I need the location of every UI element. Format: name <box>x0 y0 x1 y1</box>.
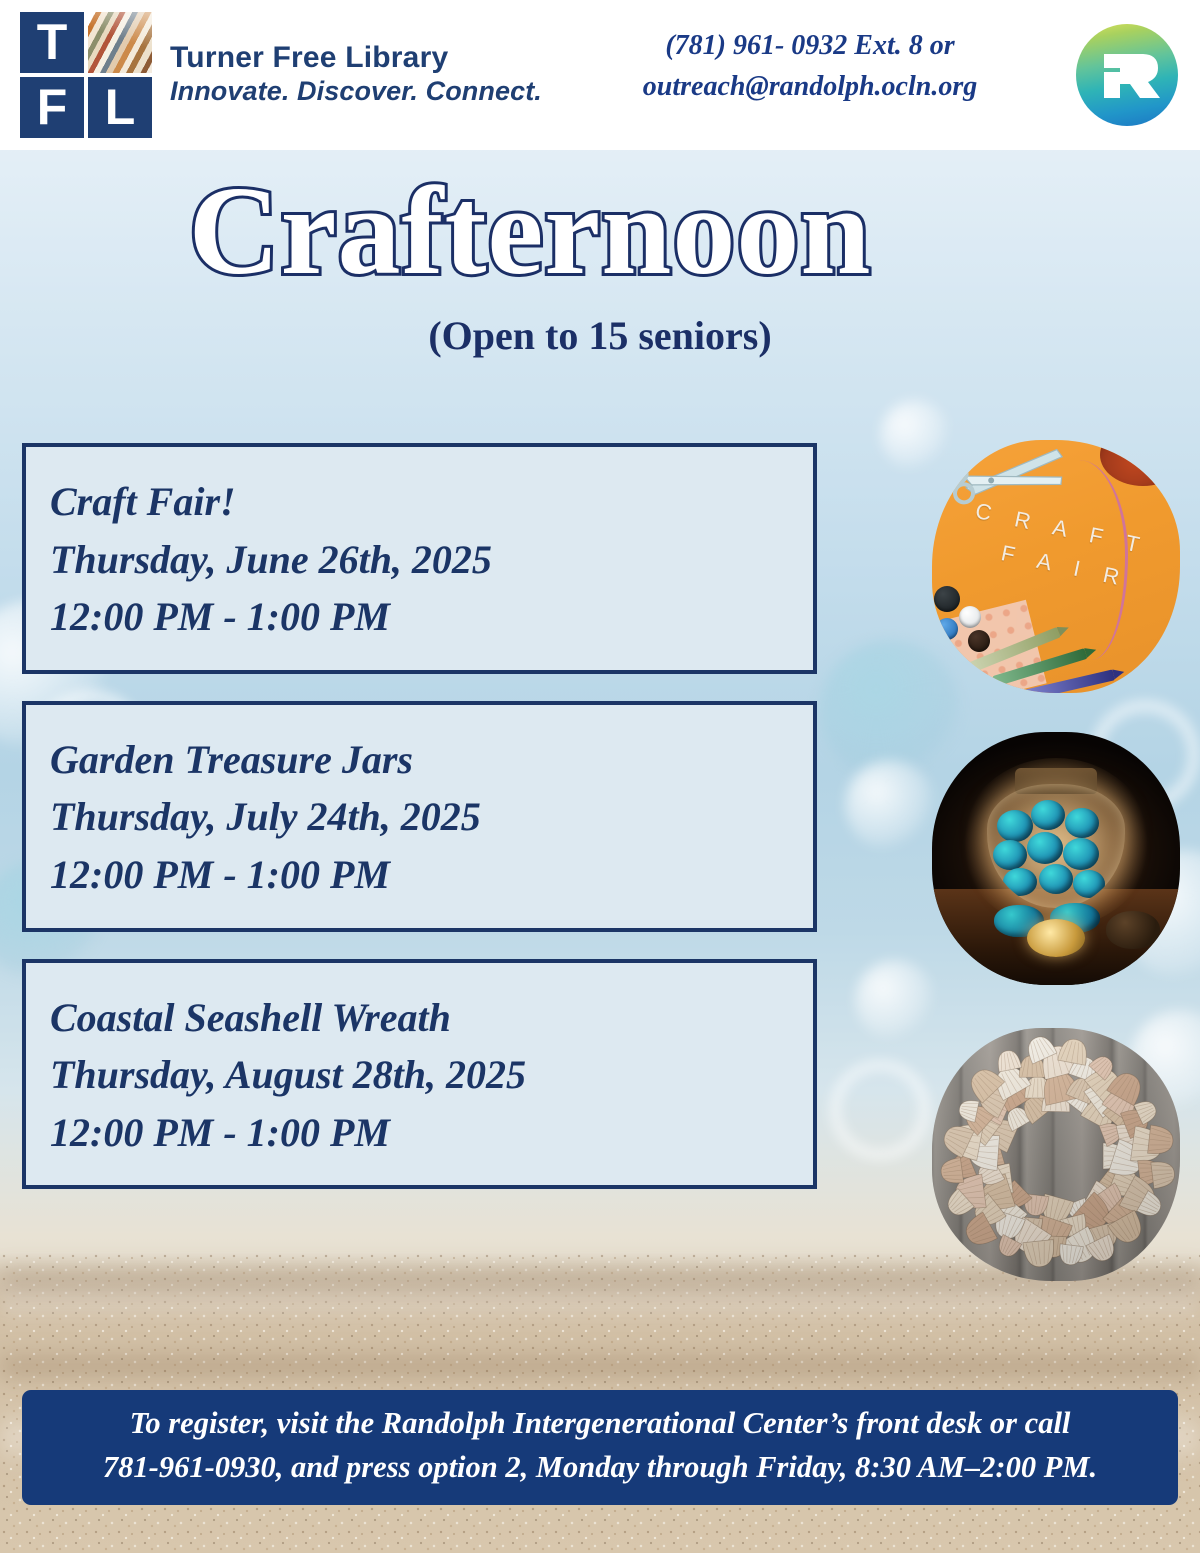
wreath-shells <box>932 1028 1180 1281</box>
events-list: Craft Fair! Thursday, June 26th, 2025 12… <box>22 443 817 1216</box>
seashell-wreath-image <box>932 1028 1180 1281</box>
glass-stone <box>1027 832 1063 864</box>
scissors-icon <box>946 440 1073 508</box>
glass-stone <box>1063 838 1099 870</box>
event-name: Coastal Seashell Wreath <box>50 989 789 1047</box>
craft-fair-caption: C R A F T F A I R <box>966 498 1155 596</box>
glass-stone <box>1065 808 1099 838</box>
event-box-garden-treasure-jars: Garden Treasure Jars Thursday, July 24th… <box>22 701 817 932</box>
glass-stone <box>993 840 1027 870</box>
library-name: Turner Free Library <box>170 42 542 74</box>
contact-phone: (781) 961- 0932 Ext. 8 or <box>560 26 1060 67</box>
logo-letter-l: L <box>88 77 152 138</box>
craft-fair-image: C R A F T F A I R <box>932 440 1180 693</box>
amber-stone <box>1027 919 1085 957</box>
garden-jar-image <box>932 732 1180 985</box>
contact-email: outreach@randolph.ocln.org <box>560 67 1060 108</box>
button-icon <box>934 586 960 612</box>
button-icon <box>936 618 958 640</box>
randolph-r-logo <box>1076 24 1178 126</box>
tfl-logo-grid: T F L <box>20 12 152 138</box>
event-date: Thursday, July 24th, 2025 <box>50 788 789 846</box>
library-tagline: Innovate. Discover. Connect. <box>170 75 542 108</box>
glass-stone <box>1003 868 1037 896</box>
page-header: T F L Turner Free Library Innovate. Disc… <box>0 0 1200 150</box>
yarn-ball-icon <box>1100 440 1180 486</box>
event-date: Thursday, August 28th, 2025 <box>50 1046 789 1104</box>
page-title: Crafternoon <box>0 168 1060 297</box>
event-time: 12:00 PM - 1:00 PM <box>50 846 789 904</box>
glass-stone <box>1073 870 1105 898</box>
event-date: Thursday, June 26th, 2025 <box>50 531 789 589</box>
event-time: 12:00 PM - 1:00 PM <box>50 1104 789 1162</box>
event-name: Garden Treasure Jars <box>50 731 789 789</box>
logo-letter-t: T <box>20 12 84 73</box>
page-subtitle: (Open to 15 seniors) <box>0 312 1200 359</box>
glass-stone <box>1039 864 1073 894</box>
button-icon <box>968 630 990 652</box>
event-box-coastal-seashell-wreath: Coastal Seashell Wreath Thursday, August… <box>22 959 817 1190</box>
sand-shadow <box>0 1349 1200 1383</box>
glass-stone <box>997 810 1033 842</box>
library-logo: T F L Turner Free Library Innovate. Disc… <box>20 12 542 138</box>
garden-treasure-jar-photo <box>932 732 1180 985</box>
flyer-page: T F L Turner Free Library Innovate. Disc… <box>0 0 1200 1553</box>
logo-text-block: Turner Free Library Innovate. Discover. … <box>170 42 542 107</box>
register-line-2: 781-961-0930, and press option 2, Monday… <box>40 1446 1160 1489</box>
logo-letter-f: F <box>20 77 84 138</box>
register-banner: To register, visit the Randolph Intergen… <box>22 1390 1178 1505</box>
event-box-craft-fair: Craft Fair! Thursday, June 26th, 2025 12… <box>22 443 817 674</box>
contact-info: (781) 961- 0932 Ext. 8 or outreach@rando… <box>560 26 1060 107</box>
glass-stone <box>1031 800 1065 830</box>
button-icon <box>959 606 981 628</box>
register-line-1: To register, visit the Randolph Intergen… <box>40 1402 1160 1445</box>
dark-stone <box>1106 911 1160 949</box>
craft-fair-photo: C R A F T F A I R <box>932 440 1180 693</box>
event-name: Craft Fair! <box>50 473 789 531</box>
event-time: 12:00 PM - 1:00 PM <box>50 588 789 646</box>
seashell-wreath-photo <box>932 1028 1180 1281</box>
stacked-books-icon <box>88 12 152 73</box>
